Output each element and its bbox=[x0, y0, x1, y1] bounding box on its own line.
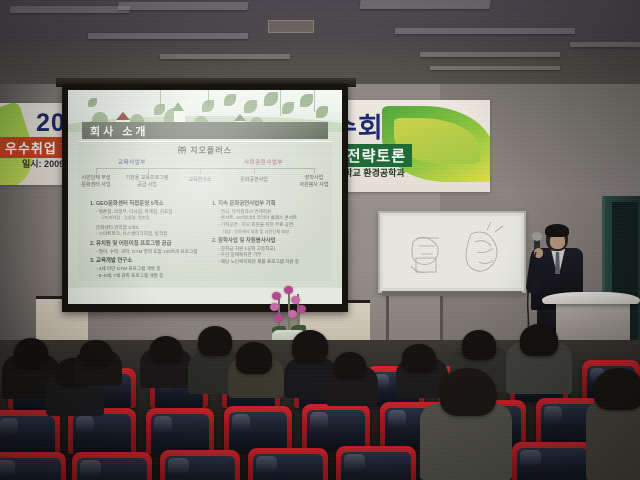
audience-member-head bbox=[292, 330, 328, 362]
orchid-bloom bbox=[284, 286, 293, 294]
seat[interactable] bbox=[0, 410, 60, 456]
seat-highlight bbox=[344, 454, 365, 471]
orchid-bloom bbox=[288, 310, 297, 318]
orchid-bloom bbox=[272, 292, 281, 300]
seat[interactable] bbox=[0, 452, 66, 480]
seat[interactable] bbox=[72, 452, 152, 480]
seat-highlight bbox=[520, 450, 541, 467]
auditorium-photo: 200 우수취업 일시: 2009. 수회 공전략토론 대학교 환경공학과 bbox=[0, 0, 640, 480]
orchid-bloom bbox=[274, 314, 283, 322]
seat-highlight bbox=[256, 456, 277, 473]
seat-highlight bbox=[76, 416, 94, 433]
orchid-bloom bbox=[297, 305, 306, 313]
seat-highlight bbox=[388, 410, 406, 427]
audience-member-head bbox=[462, 330, 496, 360]
seat-highlight bbox=[154, 416, 172, 433]
seat[interactable] bbox=[512, 442, 592, 480]
audience-member-body bbox=[586, 400, 640, 480]
seat-highlight bbox=[80, 460, 101, 477]
audience-member-head bbox=[440, 368, 496, 416]
audience-member-head bbox=[402, 344, 436, 372]
seat[interactable] bbox=[224, 406, 292, 452]
orchid-bloom bbox=[270, 303, 279, 311]
audience-member-head bbox=[150, 336, 182, 363]
seat-highlight bbox=[232, 414, 250, 431]
seat[interactable] bbox=[160, 450, 240, 480]
audience-member-head bbox=[334, 352, 366, 379]
seat[interactable] bbox=[336, 446, 416, 480]
podium-top bbox=[542, 292, 640, 304]
audience-member-head bbox=[14, 338, 48, 368]
seat[interactable] bbox=[146, 408, 214, 454]
seat-highlight bbox=[544, 406, 562, 423]
audience-member-head bbox=[594, 368, 640, 410]
seat[interactable] bbox=[248, 448, 328, 480]
audience-member-head bbox=[80, 340, 112, 366]
audience-member-head bbox=[520, 324, 558, 356]
seat-highlight bbox=[0, 418, 18, 435]
audience-member-head bbox=[198, 326, 232, 356]
orchid-bloom bbox=[291, 296, 300, 304]
audience-member-head bbox=[236, 342, 272, 374]
seat-highlight bbox=[0, 460, 15, 477]
seat-highlight bbox=[310, 412, 328, 429]
seat[interactable] bbox=[302, 404, 370, 450]
seat-highlight bbox=[168, 458, 189, 475]
